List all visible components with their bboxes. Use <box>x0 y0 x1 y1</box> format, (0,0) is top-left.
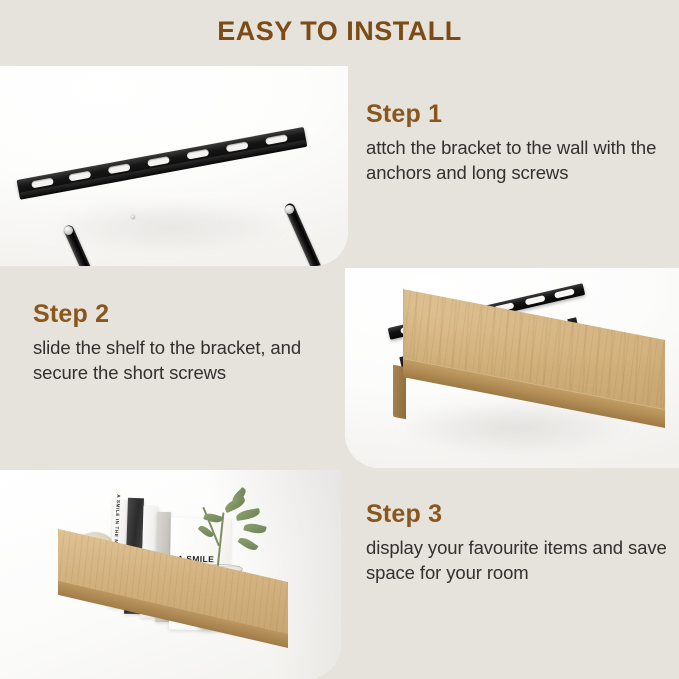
step-2-heading: Step 2 <box>33 300 333 329</box>
bracket-screw <box>131 215 135 219</box>
bracket-slot <box>525 295 546 305</box>
shelf-bracket-photo-scene <box>345 268 679 468</box>
step-1-body: attch the bracket to the wall with the a… <box>366 136 666 185</box>
page-title: EASY TO INSTALL <box>0 16 679 47</box>
bracket-photo-scene <box>0 66 348 266</box>
step-1-heading: Step 1 <box>366 100 666 129</box>
bracket-screw <box>64 226 73 235</box>
bracket-shadow <box>18 186 318 266</box>
bracket-slot <box>554 288 575 298</box>
step-3-heading: Step 3 <box>366 500 676 529</box>
step-3-text-block: Step 3 display your favourite items and … <box>366 500 676 585</box>
step-3-body: display your favourite items and save sp… <box>366 536 676 585</box>
step-2-image-panel <box>345 268 679 468</box>
infographic-page: EASY TO INSTALL <box>0 0 679 679</box>
step-2-text-block: Step 2 slide the shelf to the bracket, a… <box>33 300 333 385</box>
step-1-text-block: Step 1 attch the bracket to the wall wit… <box>366 100 666 185</box>
styled-shelf-photo-scene: A SMILE IN THE MIND A SMILE IN THE MIND <box>0 470 341 679</box>
step-2-body: slide the shelf to the bracket, and secu… <box>33 336 333 385</box>
bracket-screw <box>285 205 294 214</box>
step-3-image-panel: A SMILE IN THE MIND A SMILE IN THE MIND <box>0 470 341 679</box>
step-1-image-panel <box>0 66 348 266</box>
